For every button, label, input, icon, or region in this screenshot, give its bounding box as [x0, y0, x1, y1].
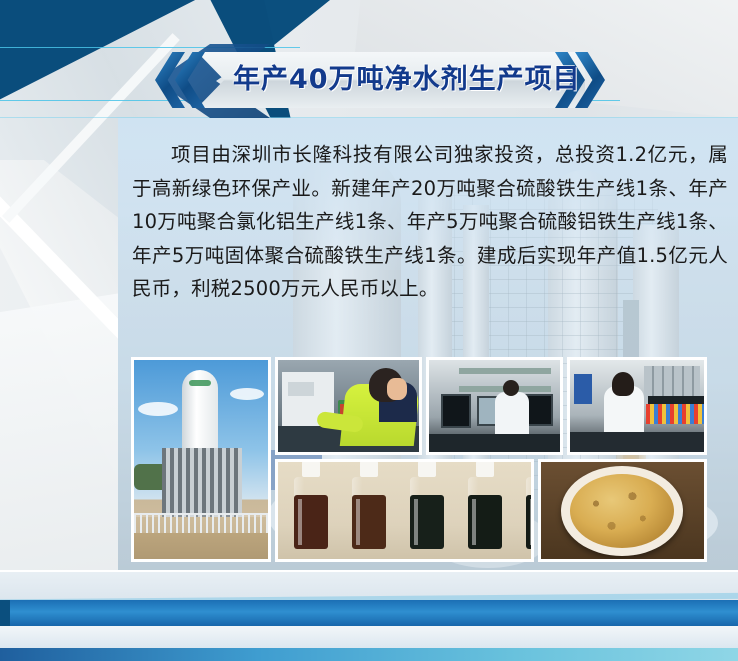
sample-bottle: [468, 477, 502, 549]
title-banner: 年产40万吨净水剂生产项目: [155, 52, 585, 108]
gallery-right-columns: [275, 357, 707, 562]
page-title: 年产40万吨净水剂生产项目: [233, 52, 563, 108]
photo-liquid-bottles[interactable]: [275, 459, 534, 562]
photo-lab-testtubes[interactable]: [567, 357, 707, 455]
bottle-cap: [476, 461, 494, 477]
sample-bottle: [410, 477, 444, 549]
gallery-bottom-row: [275, 459, 707, 562]
bottle-highlight: [472, 499, 476, 545]
footer-band-cyan: [0, 648, 738, 661]
bottle-highlight: [298, 499, 302, 545]
bottle-highlight: [356, 499, 360, 545]
photo-cryogenic-tank[interactable]: [131, 357, 271, 562]
tank-fence: [134, 513, 268, 533]
worker-cabinet-window: [288, 382, 314, 396]
bottle-cap: [302, 461, 320, 477]
lab2-test-tube-rack: [646, 404, 707, 424]
photo-worker-equipment[interactable]: [275, 357, 422, 455]
sample-bottle: [352, 477, 386, 549]
tank-cloud: [230, 388, 264, 400]
lab1-technician-coat: [495, 392, 529, 436]
tank-logo: [189, 380, 211, 386]
footer-left-strip: [0, 600, 10, 626]
footer-band-blue: [0, 600, 738, 626]
project-description: 项目由深圳市长隆科技有限公司独家投资，总投资1.2亿元，属于高新绿色环保产业。新…: [132, 138, 728, 306]
lab1-monitor: [441, 394, 471, 428]
footer-band-light-2: [0, 626, 738, 648]
worker-face: [387, 378, 407, 400]
lab2-technician-head: [612, 372, 634, 396]
gallery-left-column: [131, 357, 271, 562]
tank-cloud: [138, 402, 178, 416]
bottle-highlight: [414, 499, 418, 545]
slide-root: 年产40万吨净水剂生产项目 项目由深圳市长隆科技有限公司独家投资，总投资1.2亿…: [0, 0, 738, 661]
lab2-rack-base: [648, 396, 706, 404]
photo-gallery: [131, 357, 707, 562]
lab1-shelf: [459, 368, 551, 374]
powder-texture: [570, 474, 674, 548]
lab2-blue-equipment: [574, 374, 592, 404]
lab1-monitor: [525, 394, 553, 426]
photo-lab-monitors[interactable]: [426, 357, 563, 455]
bottle-highlight: [530, 499, 534, 545]
sample-bottle: [294, 477, 328, 549]
lab1-desk: [429, 434, 560, 452]
photo-yellow-powder[interactable]: [538, 459, 707, 562]
gallery-top-row: [275, 357, 707, 455]
bottle-cap: [418, 461, 436, 477]
bottle-cap: [360, 461, 378, 477]
lab2-desk: [570, 432, 704, 452]
sample-bottle: [526, 477, 534, 549]
